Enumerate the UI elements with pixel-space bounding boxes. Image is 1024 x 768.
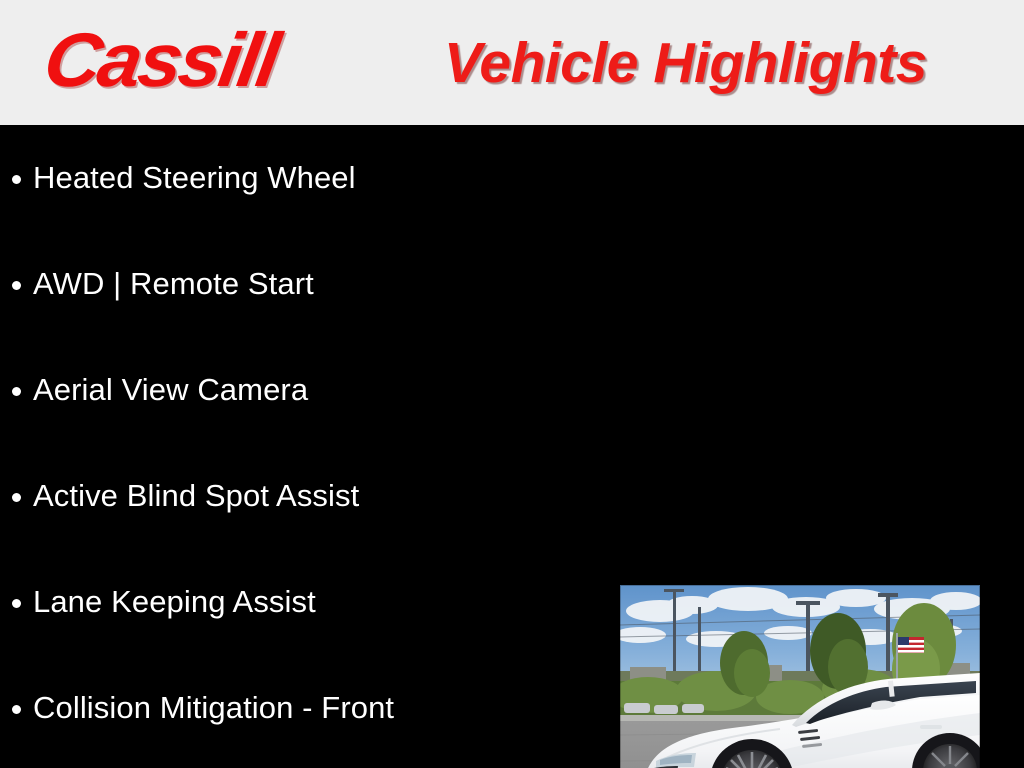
vehicle-photo (620, 585, 980, 768)
cassill-brand-logo: Cassill (38, 18, 282, 104)
vehicle-highlights-slide: Cassill Vehicle Highlights Heated Steeri… (0, 0, 1024, 768)
header-inner: Cassill Vehicle Highlights (0, 0, 1024, 125)
list-item: Active Blind Spot Assist (0, 443, 620, 549)
list-item-label: Heated Steering Wheel (33, 160, 356, 196)
page-title: Vehicle Highlights (444, 30, 927, 96)
list-item: Collision Mitigation - Front (0, 655, 620, 761)
list-item-label: Lane Keeping Assist (33, 584, 316, 620)
bullet-icon (12, 281, 21, 290)
bullet-icon (12, 705, 21, 714)
list-item-label: Aerial View Camera (33, 372, 308, 408)
list-item-label: Collision Mitigation - Front (33, 690, 394, 726)
bullet-icon (12, 175, 21, 184)
list-item-label: AWD | Remote Start (33, 266, 314, 302)
list-item: Lane Keeping Assist (0, 549, 620, 655)
bullet-icon (12, 599, 21, 608)
bullet-icon (12, 493, 21, 502)
vehicle-photo-image (620, 585, 980, 768)
list-item: Heated Steering Wheel (0, 125, 620, 231)
vehicle-highlights-list: Heated Steering Wheel AWD | Remote Start… (0, 125, 620, 761)
slide-body: Heated Steering Wheel AWD | Remote Start… (0, 125, 1024, 768)
list-item: AWD | Remote Start (0, 231, 620, 337)
list-item-label: Active Blind Spot Assist (33, 478, 359, 514)
list-item: Aerial View Camera (0, 337, 620, 443)
slide-header: Cassill Vehicle Highlights (0, 0, 1024, 125)
bullet-icon (12, 387, 21, 396)
